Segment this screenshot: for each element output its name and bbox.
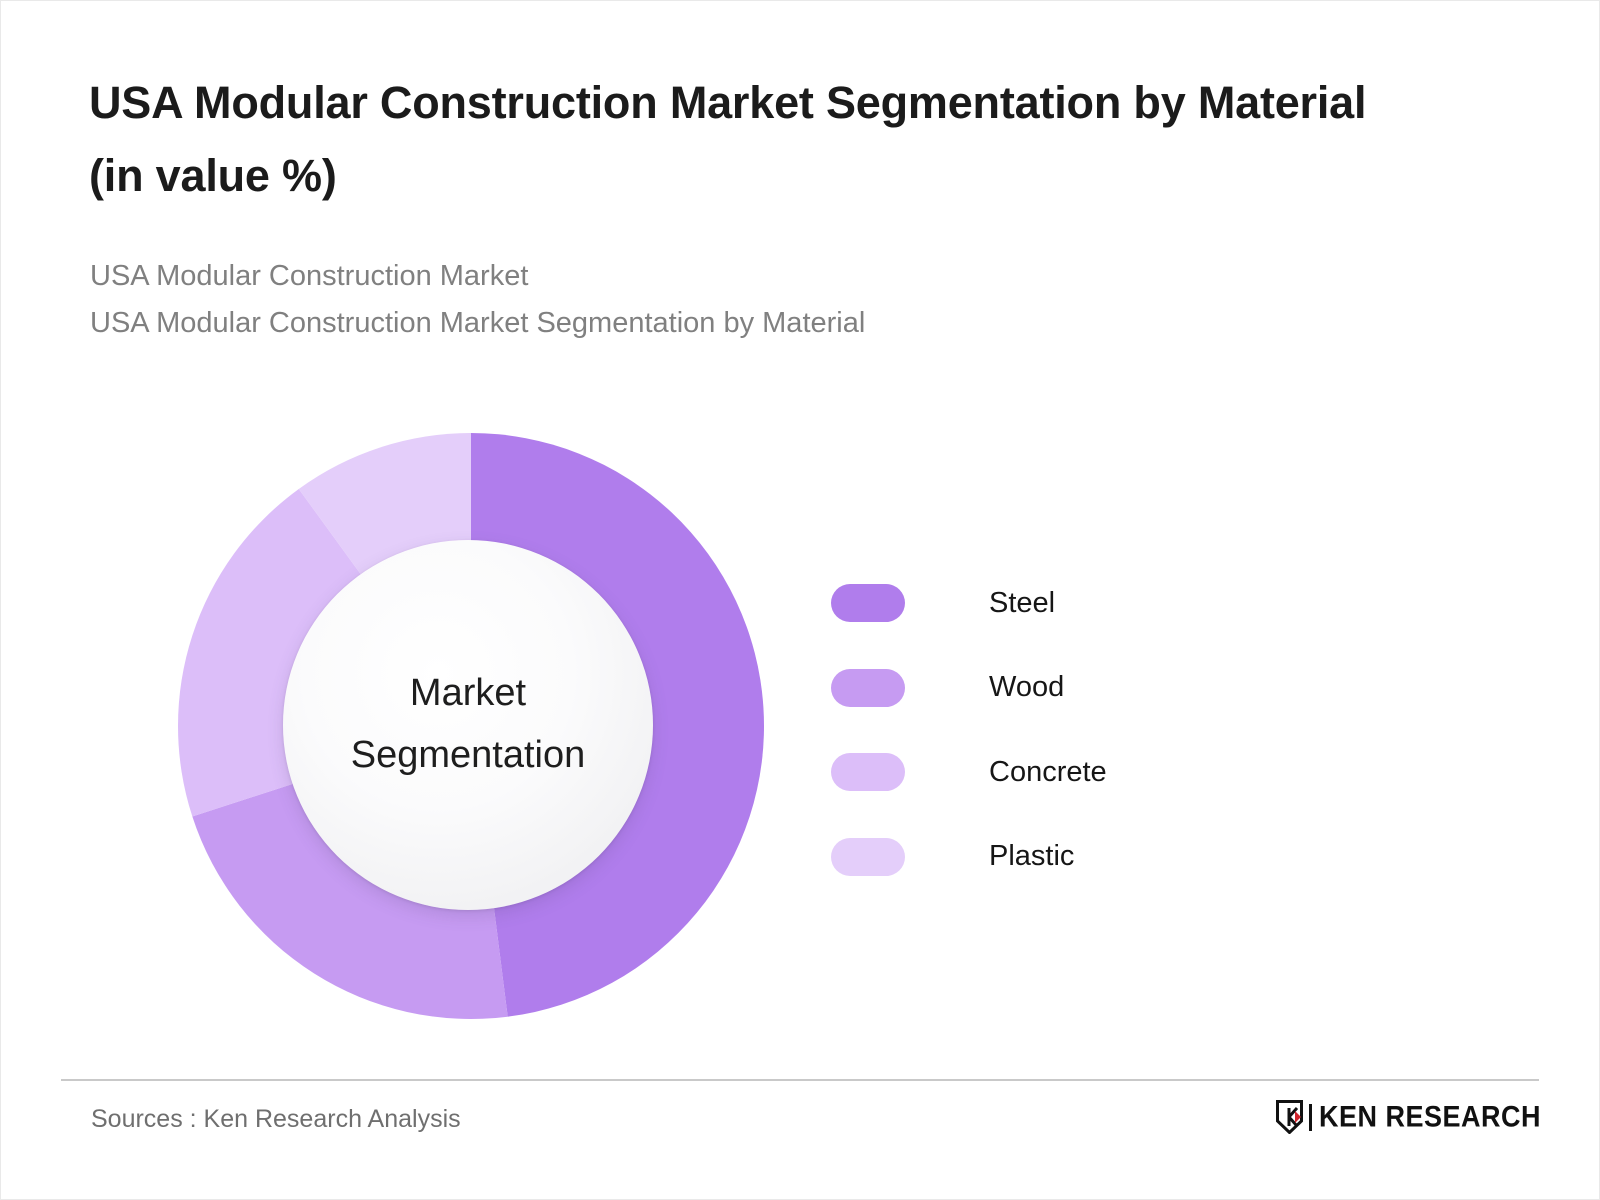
legend-label-concrete: Concrete [989,758,1107,787]
footer-sources: Sources : Ken Research Analysis [91,1099,461,1140]
legend-swatch-steel [831,584,905,622]
legend-swatch-concrete [831,753,905,791]
chart-legend: SteelWoodConcretePlastic [831,561,1107,899]
legend-item-steel[interactable]: Steel [831,561,1107,646]
ken-research-shield-icon [1276,1100,1303,1134]
legend-item-plastic[interactable]: Plastic [831,815,1107,900]
donut-center-line-2: Segmentation [351,725,586,787]
slide-canvas: USA Modular Construction Market Segmenta… [0,0,1600,1200]
legend-label-steel: Steel [989,589,1055,618]
donut-center-hub: Market Segmentation [283,540,653,910]
footer-divider [61,1079,1539,1081]
brand-name: KEN RESEARCH [1319,1102,1541,1131]
legend-item-wood[interactable]: Wood [831,646,1107,731]
donut-center-line-1: Market [410,663,526,725]
legend-label-wood: Wood [989,673,1064,702]
legend-item-concrete[interactable]: Concrete [831,730,1107,815]
donut-chart: Market Segmentation [1,1,901,1061]
legend-swatch-wood [831,669,905,707]
ken-research-logo: KEN RESEARCH [1276,1097,1541,1137]
legend-swatch-plastic [831,838,905,876]
legend-label-plastic: Plastic [989,842,1074,871]
logo-divider [1309,1104,1312,1131]
